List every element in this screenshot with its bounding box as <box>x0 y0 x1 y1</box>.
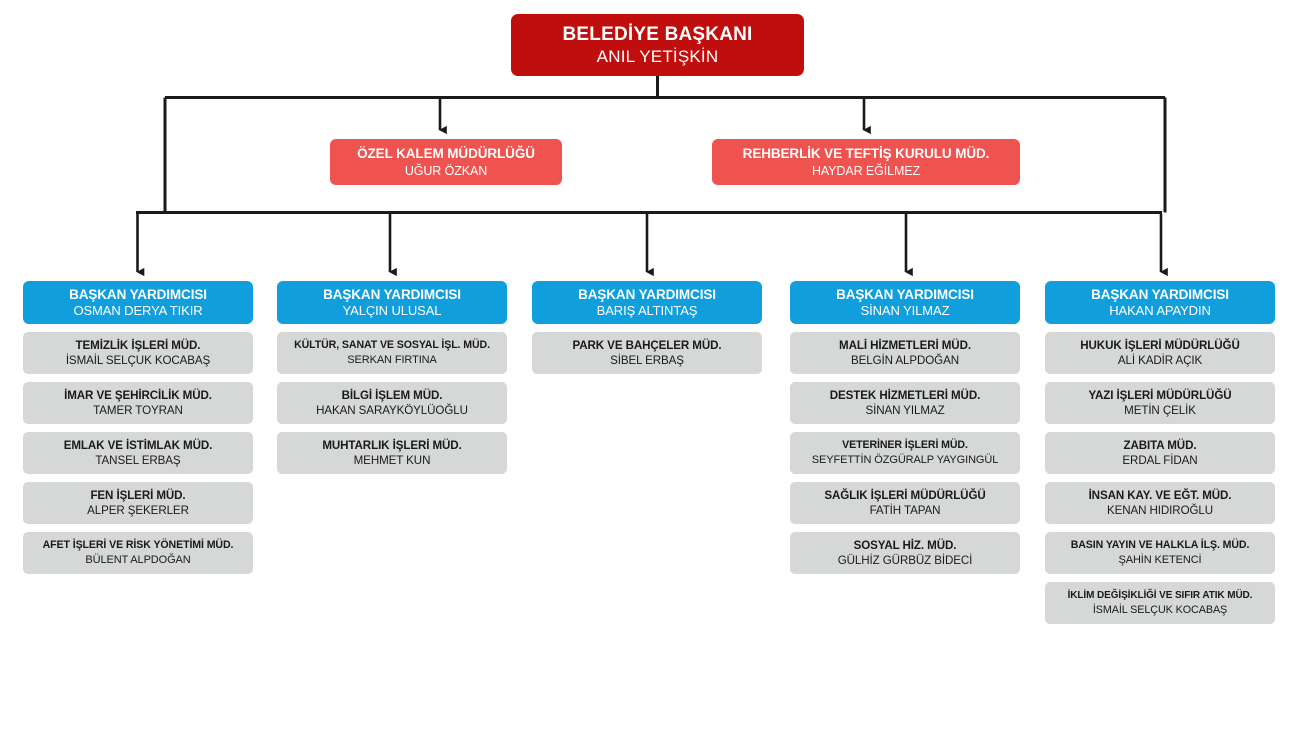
deputy-column-1: BAŞKAN YARDIMCISI OSMAN DERYA TIKIR TEMİ… <box>23 281 253 582</box>
deputy-column-5: BAŞKAN YARDIMCISI HAKAN APAYDIN HUKUK İŞ… <box>1045 281 1275 632</box>
unit-title: KÜLTÜR, SANAT VE SOSYAL İŞL. MÜD. <box>294 340 490 352</box>
unit-box[interactable]: KÜLTÜR, SANAT VE SOSYAL İŞL. MÜD. SERKAN… <box>277 332 507 374</box>
mayor-title: BELEDİYE BAŞKANI <box>562 24 752 45</box>
unit-name: ŞAHİN KETENCİ <box>1118 554 1201 566</box>
unit-title: İKLİM DEĞİŞİKLİĞİ VE SIFIR ATIK MÜD. <box>1068 590 1253 601</box>
unit-title: VETERİNER İŞLERİ MÜD. <box>842 440 968 452</box>
unit-title: PARK VE BAHÇELER MÜD. <box>572 339 721 352</box>
unit-title: HUKUK İŞLERİ MÜDÜRLÜĞÜ <box>1080 339 1239 352</box>
unit-name: HAKAN SARAYKÖYLÜOĞLU <box>316 404 468 417</box>
unit-name: BELGİN ALPDOĞAN <box>851 354 959 367</box>
unit-name: METİN ÇELİK <box>1124 404 1196 417</box>
staff-unit-title: ÖZEL KALEM MÜDÜRLÜĞÜ <box>357 146 535 161</box>
unit-title: DESTEK HİZMETLERİ MÜD. <box>830 389 980 402</box>
unit-title: FEN İŞLERİ MÜD. <box>90 489 185 502</box>
deputy-column-3: BAŞKAN YARDIMCISI BARIŞ ALTINTAŞ PARK VE… <box>532 281 762 382</box>
unit-box[interactable]: İKLİM DEĞİŞİKLİĞİ VE SIFIR ATIK MÜD. İSM… <box>1045 582 1275 624</box>
unit-name: İSMAİL SELÇUK KOCABAŞ <box>66 354 210 367</box>
deputy-name: HAKAN APAYDIN <box>1109 304 1211 319</box>
unit-box[interactable]: İMAR VE ŞEHİRCİLİK MÜD. TAMER TOYRAN <box>23 382 253 424</box>
unit-title: İMAR VE ŞEHİRCİLİK MÜD. <box>64 389 212 402</box>
deputy-box-hakan-apaydin[interactable]: BAŞKAN YARDIMCISI HAKAN APAYDIN <box>1045 281 1275 324</box>
deputy-column-2: BAŞKAN YARDIMCISI YALÇIN ULUSAL KÜLTÜR, … <box>277 281 507 482</box>
unit-name: SİNAN YILMAZ <box>865 404 944 417</box>
unit-name: ALİ KADİR AÇIK <box>1118 354 1202 367</box>
unit-box[interactable]: BASIN YAYIN VE HALKLA İLŞ. MÜD. ŞAHİN KE… <box>1045 532 1275 574</box>
deputy-title: BAŞKAN YARDIMCISI <box>1091 287 1229 302</box>
unit-name: SİBEL ERBAŞ <box>610 354 684 367</box>
deputy-name: OSMAN DERYA TIKIR <box>73 304 202 319</box>
deputy-title: BAŞKAN YARDIMCISI <box>836 287 974 302</box>
unit-box[interactable]: VETERİNER İŞLERİ MÜD. SEYFETTİN ÖZGÜRALP… <box>790 432 1020 474</box>
unit-title: ZABITA MÜD. <box>1124 439 1197 452</box>
unit-box[interactable]: SOSYAL HİZ. MÜD. GÜLHİZ GÜRBÜZ BİDECİ <box>790 532 1020 574</box>
deputy-name: SİNAN YILMAZ <box>861 304 950 319</box>
unit-box[interactable]: FEN İŞLERİ MÜD. ALPER ŞEKERLER <box>23 482 253 524</box>
unit-title: YAZI İŞLERİ MÜDÜRLÜĞÜ <box>1088 389 1231 402</box>
unit-title: BİLGİ İŞLEM MÜD. <box>342 389 443 402</box>
deputy-column-4: BAŞKAN YARDIMCISI SİNAN YILMAZ MALİ HİZM… <box>790 281 1020 582</box>
staff-unit-rehberlik-teftis[interactable]: REHBERLİK VE TEFTİŞ KURULU MÜD. HAYDAR E… <box>712 139 1020 185</box>
unit-box[interactable]: PARK VE BAHÇELER MÜD. SİBEL ERBAŞ <box>532 332 762 374</box>
unit-title: BASIN YAYIN VE HALKLA İLŞ. MÜD. <box>1071 540 1250 552</box>
mayor-box[interactable]: BELEDİYE BAŞKANI ANIL YETİŞKİN <box>511 14 804 76</box>
mayor-name: ANIL YETİŞKİN <box>597 47 719 66</box>
unit-title: AFET İŞLERİ VE RİSK YÖNETİMİ MÜD. <box>43 540 234 552</box>
unit-box[interactable]: İNSAN KAY. VE EĞT. MÜD. KENAN HIDIROĞLU <box>1045 482 1275 524</box>
unit-title: TEMİZLİK İŞLERİ MÜD. <box>76 339 201 352</box>
unit-title: MUHTARLIK İŞLERİ MÜD. <box>322 439 461 452</box>
unit-title: MALİ HİZMETLERİ MÜD. <box>839 339 971 352</box>
deputy-title: BAŞKAN YARDIMCISI <box>323 287 461 302</box>
unit-box[interactable]: SAĞLIK İŞLERİ MÜDÜRLÜĞÜ FATİH TAPAN <box>790 482 1020 524</box>
unit-name: BÜLENT ALPDOĞAN <box>85 554 190 566</box>
unit-name: ERDAL FİDAN <box>1122 454 1197 467</box>
unit-box[interactable]: MUHTARLIK İŞLERİ MÜD. MEHMET KUN <box>277 432 507 474</box>
unit-name: ALPER ŞEKERLER <box>87 504 189 517</box>
unit-box[interactable]: DESTEK HİZMETLERİ MÜD. SİNAN YILMAZ <box>790 382 1020 424</box>
unit-name: KENAN HIDIROĞLU <box>1107 504 1213 517</box>
staff-unit-title: REHBERLİK VE TEFTİŞ KURULU MÜD. <box>743 146 990 161</box>
unit-box[interactable]: ZABITA MÜD. ERDAL FİDAN <box>1045 432 1275 474</box>
unit-name: TANSEL ERBAŞ <box>95 454 180 467</box>
unit-box[interactable]: MALİ HİZMETLERİ MÜD. BELGİN ALPDOĞAN <box>790 332 1020 374</box>
staff-unit-name: UĞUR ÖZKAN <box>405 164 487 178</box>
deputy-box-osman-derya-tikir[interactable]: BAŞKAN YARDIMCISI OSMAN DERYA TIKIR <box>23 281 253 324</box>
deputy-box-sinan-yilmaz[interactable]: BAŞKAN YARDIMCISI SİNAN YILMAZ <box>790 281 1020 324</box>
unit-box[interactable]: BİLGİ İŞLEM MÜD. HAKAN SARAYKÖYLÜOĞLU <box>277 382 507 424</box>
deputy-title: BAŞKAN YARDIMCISI <box>578 287 716 302</box>
unit-name: TAMER TOYRAN <box>93 404 183 417</box>
deputy-box-baris-altintas[interactable]: BAŞKAN YARDIMCISI BARIŞ ALTINTAŞ <box>532 281 762 324</box>
unit-name: MEHMET KUN <box>354 454 431 467</box>
deputy-title: BAŞKAN YARDIMCISI <box>69 287 207 302</box>
unit-name: SERKAN FIRTINA <box>347 354 436 366</box>
unit-title: EMLAK VE İSTİMLAK MÜD. <box>64 439 213 452</box>
unit-name: GÜLHİZ GÜRBÜZ BİDECİ <box>838 554 973 567</box>
org-chart: BELEDİYE BAŞKANI ANIL YETİŞKİN ÖZEL KALE… <box>0 0 1298 741</box>
deputy-box-yalcin-ulusal[interactable]: BAŞKAN YARDIMCISI YALÇIN ULUSAL <box>277 281 507 324</box>
unit-box[interactable]: YAZI İŞLERİ MÜDÜRLÜĞÜ METİN ÇELİK <box>1045 382 1275 424</box>
unit-title: SAĞLIK İŞLERİ MÜDÜRLÜĞÜ <box>824 489 985 502</box>
unit-name: İSMAİL SELÇUK KOCABAŞ <box>1093 604 1227 616</box>
unit-title: İNSAN KAY. VE EĞT. MÜD. <box>1089 489 1232 502</box>
deputy-name: BARIŞ ALTINTAŞ <box>597 304 698 319</box>
unit-title: SOSYAL HİZ. MÜD. <box>854 539 957 552</box>
unit-box[interactable]: TEMİZLİK İŞLERİ MÜD. İSMAİL SELÇUK KOCAB… <box>23 332 253 374</box>
unit-box[interactable]: AFET İŞLERİ VE RİSK YÖNETİMİ MÜD. BÜLENT… <box>23 532 253 574</box>
unit-box[interactable]: HUKUK İŞLERİ MÜDÜRLÜĞÜ ALİ KADİR AÇIK <box>1045 332 1275 374</box>
unit-box[interactable]: EMLAK VE İSTİMLAK MÜD. TANSEL ERBAŞ <box>23 432 253 474</box>
deputy-name: YALÇIN ULUSAL <box>343 304 442 319</box>
staff-unit-ozel-kalem[interactable]: ÖZEL KALEM MÜDÜRLÜĞÜ UĞUR ÖZKAN <box>330 139 562 185</box>
unit-name: SEYFETTİN ÖZGÜRALP YAYGINGÜL <box>812 454 998 466</box>
unit-name: FATİH TAPAN <box>870 504 941 517</box>
staff-unit-name: HAYDAR EĞİLMEZ <box>812 164 920 178</box>
